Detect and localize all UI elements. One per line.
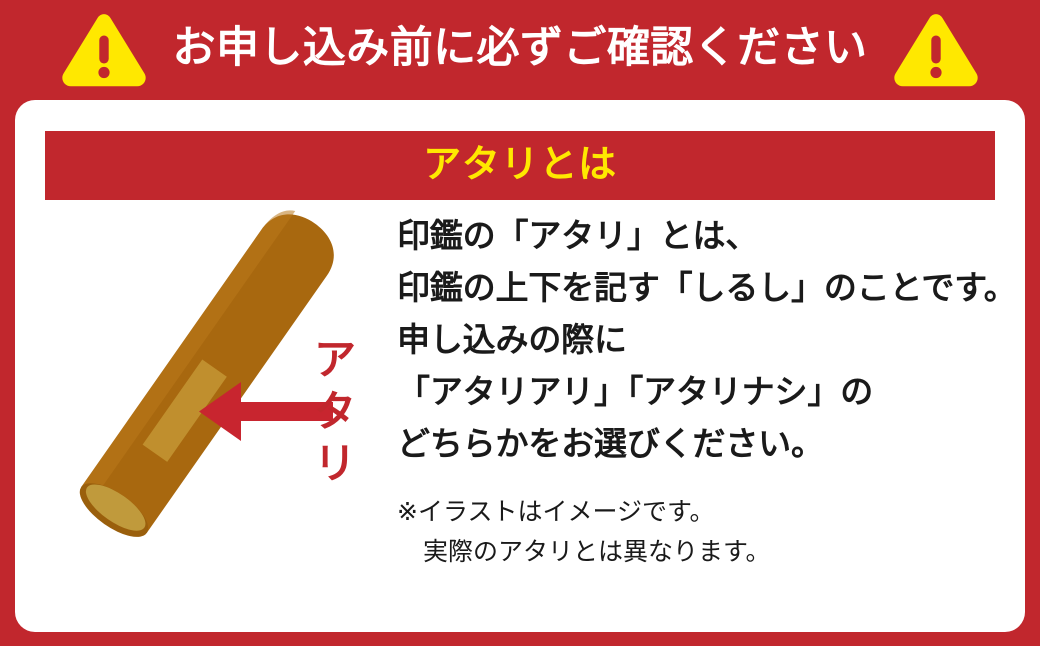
banner-header: お申し込み前に必ずご確認ください xyxy=(0,0,1040,100)
warning-triangle-icon xyxy=(893,13,979,87)
note-line: 実際のアタリとは異なります。 xyxy=(397,532,1017,572)
description-line: 印鑑の上下を記す「しるし」のことです。 xyxy=(397,262,1017,314)
description-line: どちらかをお選びください。 xyxy=(397,418,1017,470)
note-line: ※イラストはイメージです。 xyxy=(397,492,1017,532)
arrow-label-char-2: タ xyxy=(314,388,356,435)
arrow-label-char-3: リ xyxy=(314,440,356,487)
warning-triangle-icon xyxy=(61,13,147,87)
section-title-band: アタリとは xyxy=(45,131,995,200)
description-line: 印鑑の「アタリ」とは、 xyxy=(397,210,1017,262)
banner-title: お申し込み前に必ずご確認ください xyxy=(173,27,868,73)
description-line: 「アタリアリ」「アタリナシ」の xyxy=(397,366,1017,418)
hanko-illustration-svg: ア タ リ xyxy=(43,202,393,622)
note-block: ※イラストはイメージです。 実際のアタリとは異なります。 xyxy=(397,492,1017,572)
description-line: 申し込みの際に xyxy=(397,314,1017,366)
card-body: ア タ リ 印鑑の「アタリ」とは、 印鑑の上下を記す「しるし」のことです。 申し… xyxy=(15,200,1025,632)
content-card: アタリとは xyxy=(15,100,1025,632)
hanko-illustration: ア タ リ xyxy=(43,202,393,622)
description-text-column: 印鑑の「アタリ」とは、 印鑑の上下を記す「しるし」のことです。 申し込みの際に … xyxy=(397,210,1017,572)
arrow-label-char-1: ア xyxy=(314,336,356,383)
section-title: アタリとは xyxy=(423,146,617,186)
